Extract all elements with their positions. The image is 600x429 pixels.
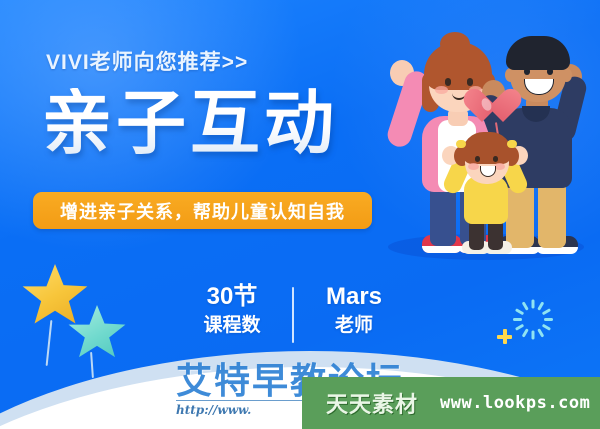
star-balloon-cyan-icon xyxy=(68,305,126,361)
child-blush-left xyxy=(468,163,479,170)
father-shoe-right-sole xyxy=(536,247,578,254)
child-hair-tie-right xyxy=(507,140,517,148)
heart-balloon-icon xyxy=(472,90,512,128)
family-illustration xyxy=(372,28,600,272)
father-eye-left xyxy=(524,68,530,75)
mother-shoe-left-sole xyxy=(422,246,462,253)
sunburst-icon xyxy=(509,280,557,328)
child-hair xyxy=(462,132,512,164)
promo-banner: VIVI老师向您推荐>> 亲子互动 增进亲子关系，帮助儿童认知自我 30节 课程… xyxy=(0,0,600,429)
stats-divider xyxy=(292,287,294,343)
mother-eye-left xyxy=(445,78,451,86)
stat-course-count-label: 课程数 xyxy=(186,314,278,339)
mother-blush-left xyxy=(435,86,448,94)
watermark-site-url: www.lookps.com xyxy=(440,393,590,413)
mother-eye-right xyxy=(467,78,473,86)
stat-teacher-value: Mars xyxy=(308,283,400,311)
stat-course-count-value: 30节 xyxy=(186,283,278,311)
father-hair xyxy=(506,36,570,70)
watermark-bar: 天天素材 www.lookps.com xyxy=(302,377,600,429)
stat-teacher: Mars 老师 xyxy=(308,283,400,338)
child-hair-tie-left xyxy=(456,140,466,148)
father-eye-right xyxy=(547,68,553,75)
star-balloon-yellow-stem xyxy=(46,320,53,366)
star-balloon-cyan-stem xyxy=(90,352,94,378)
subtitle-pill: 增进亲子关系，帮助儿童认知自我 xyxy=(33,192,372,229)
mother-hair-bun xyxy=(440,32,470,56)
stat-course-count: 30节 课程数 xyxy=(186,283,278,338)
stat-teacher-label: 老师 xyxy=(308,314,400,339)
child-eye-right xyxy=(493,156,498,162)
plus-sparkle-icon xyxy=(497,329,512,344)
page-title: 亲子互动 xyxy=(42,88,338,158)
course-stats: 30节 课程数 Mars 老师 xyxy=(186,283,400,343)
watermark-brand: 天天素材 xyxy=(326,387,418,419)
subtitle-pill-label: 增进亲子关系，帮助儿童认知自我 xyxy=(60,198,345,224)
child-eye-left xyxy=(475,156,480,162)
star-balloon-yellow-icon xyxy=(22,264,88,328)
kicker-text: VIVI老师向您推荐>> xyxy=(46,46,248,76)
